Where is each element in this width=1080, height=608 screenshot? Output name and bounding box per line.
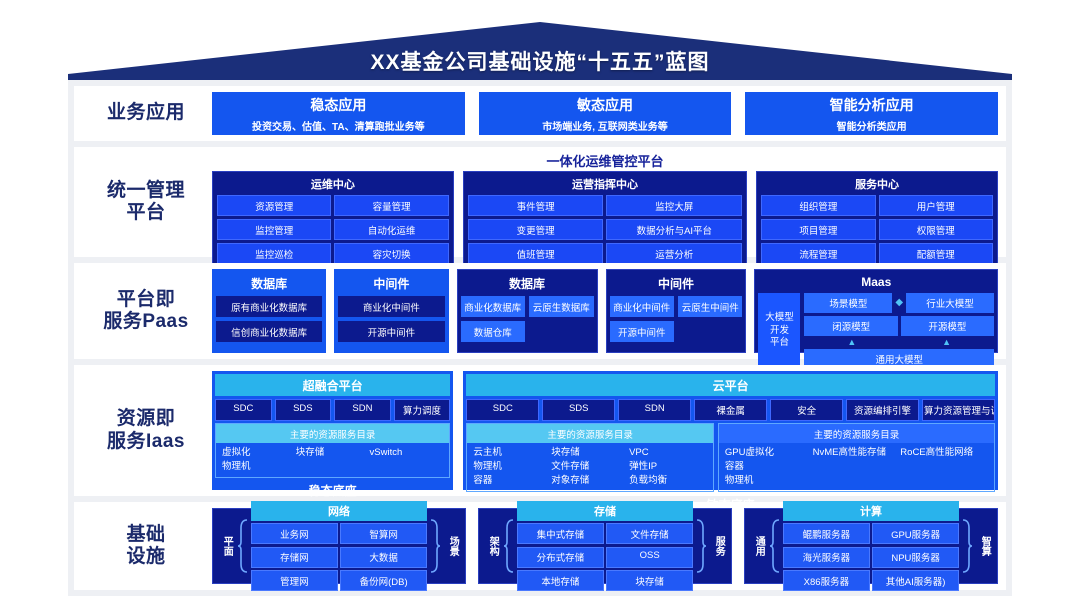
app-subtitle: 市场端业务, 互联网类业务等 xyxy=(542,118,668,133)
infrastructure-body: 平面 网络 业务网 智算网 存储网 大数据 管理网 xyxy=(212,508,998,584)
mgmt-cell[interactable]: 项目管理 xyxy=(761,219,875,240)
catalog-column: 虚拟化 物理机 xyxy=(222,447,296,473)
brace-left-icon xyxy=(503,518,514,574)
infra-title: 计算 xyxy=(783,501,959,521)
mgmt-cell[interactable]: 事件管理 xyxy=(468,195,604,216)
catalog-column: 块存储 xyxy=(296,447,370,473)
app-subtitle: 智能分析类应用 xyxy=(837,118,907,133)
brace-left-icon xyxy=(769,518,780,574)
catalog-column: RoCE高性能网络 xyxy=(900,447,988,487)
mgmt-cell[interactable]: 监控大屏 xyxy=(606,195,742,216)
infra-cell[interactable]: 海光服务器 xyxy=(783,547,870,568)
app-card-stable[interactable]: 稳态应用 投资交易、估值、TA、清算跑批业务等 xyxy=(212,92,465,135)
arrow-horizontal-icon: ◆ xyxy=(895,298,903,308)
layer-label-line2: 设施 xyxy=(126,546,165,568)
mgmt-cell[interactable]: 流程管理 xyxy=(761,243,875,264)
hci-base-label: 稳态底座 xyxy=(213,478,452,502)
cloud-capability[interactable]: SDC xyxy=(466,399,539,421)
paas-item[interactable]: 云原生中间件 xyxy=(678,296,742,317)
maas-dev-platform-l2: 开发 xyxy=(770,325,789,338)
infra-cell[interactable]: 其他AI服务器) xyxy=(872,570,959,591)
cloud-capability[interactable]: 资源编排引擎 xyxy=(846,399,919,421)
app-subtitle: 投资交易、估值、TA、清算跑批业务等 xyxy=(252,118,425,133)
roof-banner: XX基金公司基础设施“十五五”蓝图 xyxy=(68,22,1012,80)
infra-cell[interactable]: 智算网 xyxy=(340,523,427,544)
business-body: 稳态应用 投资交易、估值、TA、清算跑批业务等 敏态应用 市场端业务, 互联网类… xyxy=(212,92,998,135)
catalog-column: GPU虚拟化 容器 物理机 xyxy=(725,447,813,487)
cloud-catalog-ai: 主要的资源服务目录 GPU虚拟化 容器 物理机 NvME高性能存储 xyxy=(718,423,995,492)
infra-right-label: 服务 xyxy=(710,536,726,556)
maas-scene-model[interactable]: 场景模型 xyxy=(804,293,892,313)
mgmt-cell[interactable]: 资源管理 xyxy=(217,195,331,216)
paas-item[interactable]: 数据仓库 xyxy=(461,321,525,342)
paas-card-database-cloudnative[interactable]: 数据库 商业化数据库 云原生数据库 数据仓库 xyxy=(457,269,598,353)
layer-label-infrastructure: 基础 设施 xyxy=(80,508,212,584)
paas-item[interactable]: 商业化中间件 xyxy=(610,296,674,317)
cloud-capability[interactable]: 算力资源管理与调度 xyxy=(922,399,995,421)
paas-item[interactable]: 信创商业化数据库 xyxy=(216,321,322,342)
paas-card-title: 数据库 xyxy=(461,273,594,296)
infra-cell[interactable]: 备份网(DB) xyxy=(340,570,427,591)
layer-label-line2: 平台 xyxy=(107,202,185,224)
brace-right-icon xyxy=(696,518,707,574)
cloud-capability[interactable]: SDS xyxy=(542,399,615,421)
layer-label-management: 统一管理 平台 xyxy=(80,153,212,251)
catalog-column: 块存储 文件存储 对象存储 xyxy=(551,447,629,487)
paas-item[interactable]: 商业化中间件 xyxy=(338,296,444,317)
paas-card-title: 中间件 xyxy=(338,273,444,296)
infra-right-label: 智算 xyxy=(976,536,992,556)
maas-title: Maas xyxy=(758,273,994,293)
catalog-item: 物理机 xyxy=(222,461,296,473)
app-card-intelligent-analytics[interactable]: 智能分析应用 智能分析类应用 xyxy=(745,92,998,135)
infra-cell[interactable]: 业务网 xyxy=(251,523,338,544)
catalog-item: GPU虚拟化 xyxy=(725,447,813,459)
catalog-item: VPC xyxy=(629,447,707,459)
mgmt-card-ops-center[interactable]: 运维中心 资源管理 容量管理 监控管理 自动化运维 监控巡检 容灾切换 xyxy=(212,171,454,269)
cloud-platform-card[interactable]: 云平台 SDC SDS SDN 裸金属 安全 资源编排引擎 算力资源管理与调度 xyxy=(463,371,998,490)
infra-title: 网络 xyxy=(251,501,427,521)
arrow-up-icon: ▲ xyxy=(847,338,856,347)
catalog-column: VPC 弹性IP 负载均衡 xyxy=(629,447,707,487)
maas-dev-platform-l3: 平台 xyxy=(770,337,789,350)
catalog-item: 块存储 xyxy=(551,447,629,459)
layer-iaas: 资源即 服务Iaas 超融合平台 SDC SDS SDN 算力调度 xyxy=(74,365,1006,496)
layer-label-iaas: 资源即 服务Iaas xyxy=(80,371,212,490)
infra-cell[interactable]: 存储网 xyxy=(251,547,338,568)
infra-cell[interactable]: 块存储 xyxy=(606,570,693,591)
paas-card-middleware-cloudnative[interactable]: 中间件 商业化中间件 云原生中间件 开源中间件 xyxy=(606,269,747,353)
app-card-agile[interactable]: 敏态应用 市场端业务, 互联网类业务等 xyxy=(479,92,732,135)
mgmt-card-title: 服务中心 xyxy=(759,174,995,195)
paas-card-title: 中间件 xyxy=(610,273,743,296)
maas-card[interactable]: Maas 大模型 开发 平台 场景模型 ◆ xyxy=(754,269,998,353)
infra-cell[interactable]: 管理网 xyxy=(251,570,338,591)
mgmt-cell[interactable]: 权限管理 xyxy=(879,219,993,240)
catalog-item: NvME高性能存储 xyxy=(813,447,901,459)
mgmt-cell[interactable]: 自动化运维 xyxy=(334,219,448,240)
catalog-item: 块存储 xyxy=(296,447,370,459)
catalog-item: RoCE高性能网络 xyxy=(900,447,988,459)
paas-card-database-traditional[interactable]: 数据库 原有商业化数据库 信创商业化数据库 xyxy=(212,269,326,353)
maas-industry-model[interactable]: 行业大模型 xyxy=(906,293,994,313)
mgmt-cell[interactable]: 容量管理 xyxy=(334,195,448,216)
paas-group-cloudnative: 数据库 商业化数据库 云原生数据库 数据仓库 中间件 商业化中间件 xyxy=(457,269,747,353)
mgmt-cell[interactable]: 配额管理 xyxy=(879,243,993,264)
maas-arrow-row: ▲ ▲ xyxy=(804,339,994,346)
app-title: 敏态应用 xyxy=(577,95,633,115)
mgmt-card-service-center[interactable]: 服务中心 组织管理 用户管理 项目管理 权限管理 流程管理 配额管理 xyxy=(756,171,998,269)
maas-dev-platform-l1: 大模型 xyxy=(765,312,794,325)
hci-capability[interactable]: SDC xyxy=(215,399,272,421)
arrow-up-icon: ▲ xyxy=(942,338,951,347)
paas-item[interactable]: 开源中间件 xyxy=(610,321,674,342)
infra-cell[interactable]: 文件存储 xyxy=(606,523,693,544)
catalog-item: vSwitch xyxy=(370,447,444,459)
catalog-item: 对象存储 xyxy=(551,475,629,487)
catalog-item: 容器 xyxy=(725,461,813,473)
hci-catalog-title: 主要的资源服务目录 xyxy=(216,424,449,443)
infra-cell[interactable]: 集中式存储 xyxy=(517,523,604,544)
catalog-item: 虚拟化 xyxy=(222,447,296,459)
infra-left-label: 通用 xyxy=(750,536,766,556)
blueprint-diagram: XX基金公司基础设施“十五五”蓝图 业务应用 稳态应用 投资交易、估值、TA、清… xyxy=(0,0,1080,608)
cloud-catalog-title: 主要的资源服务目录 xyxy=(719,424,994,443)
mgmt-card-title: 运维中心 xyxy=(215,174,451,195)
layer-paas: 平台即 服务Paas 数据库 原有商业化数据库 信创商业化数据库 xyxy=(74,263,1006,359)
catalog-column: vSwitch xyxy=(370,447,444,473)
brace-left-icon xyxy=(237,518,248,574)
management-body: 一体化运维管控平台 运维中心 资源管理 容量管理 监控管理 自动化运维 监控巡检… xyxy=(212,153,998,251)
mgmt-card-title: 运营指挥中心 xyxy=(466,174,744,195)
mgmt-cell[interactable]: 运营分析 xyxy=(606,243,742,264)
hci-capability[interactable]: SDS xyxy=(275,399,332,421)
iaas-body: 超融合平台 SDC SDS SDN 算力调度 主要的资源服务目录 虚拟化 xyxy=(212,371,998,490)
app-title: 稳态应用 xyxy=(310,95,366,115)
layer-label-line2: 服务Paas xyxy=(103,311,188,333)
mgmt-cell[interactable]: 组织管理 xyxy=(761,195,875,216)
layer-label-business: 业务应用 xyxy=(80,92,212,135)
infra-cell[interactable]: 大数据 xyxy=(340,547,427,568)
paas-item[interactable]: 开源中间件 xyxy=(338,321,444,342)
cloud-capability[interactable]: 裸金属 xyxy=(694,399,767,421)
mgmt-cell[interactable]: 容灾切换 xyxy=(334,243,448,264)
mgmt-cell[interactable]: 值班管理 xyxy=(468,243,604,264)
catalog-item: 物理机 xyxy=(725,475,813,487)
maas-dev-platform[interactable]: 大模型 开发 平台 xyxy=(758,293,800,369)
infra-card-compute[interactable]: 通用 计算 鲲鹏服务器 GPU服务器 海光服务器 NPU服务器 X86服务 xyxy=(744,508,998,584)
paas-body: 数据库 原有商业化数据库 信创商业化数据库 中间件 商业化中间件 开源中间件 xyxy=(212,269,998,353)
paas-item[interactable]: 商业化数据库 xyxy=(461,296,525,317)
layer-label-line2: 服务Iaas xyxy=(107,431,185,453)
infra-cell[interactable]: 本地存储 xyxy=(517,570,604,591)
cloud-platform-title: 云平台 xyxy=(466,374,995,396)
infra-card-network[interactable]: 平面 网络 业务网 智算网 存储网 大数据 管理网 xyxy=(212,508,466,584)
paas-card-middleware-traditional[interactable]: 中间件 商业化中间件 开源中间件 xyxy=(334,269,448,353)
paas-item-empty xyxy=(529,321,593,342)
cloud-catalog-title: 主要的资源服务目录 xyxy=(467,424,713,443)
mgmt-cell[interactable]: 变更管理 xyxy=(468,219,604,240)
brace-right-icon xyxy=(430,518,441,574)
mgmt-card-operation-command-center[interactable]: 运营指挥中心 事件管理 监控大屏 变更管理 数据分析与AI平台 值班管理 运营分… xyxy=(463,171,747,269)
infra-title: 存储 xyxy=(517,501,693,521)
page-title: XX基金公司基础设施“十五五”蓝图 xyxy=(68,22,1012,80)
hci-capability[interactable]: 算力调度 xyxy=(394,399,451,421)
cloud-capability[interactable]: 安全 xyxy=(770,399,843,421)
cloud-capability[interactable]: SDN xyxy=(618,399,691,421)
paas-group-maas: Maas 大模型 开发 平台 场景模型 ◆ xyxy=(754,269,998,353)
layer-business-application: 业务应用 稳态应用 投资交易、估值、TA、清算跑批业务等 敏态应用 市场端业务,… xyxy=(74,86,1006,141)
catalog-item: 弹性IP xyxy=(629,461,707,473)
infra-cell[interactable]: 鲲鹏服务器 xyxy=(783,523,870,544)
catalog-column: NvME高性能存储 xyxy=(813,447,901,487)
cloud-catalog-general: 主要的资源服务目录 云主机 物理机 容器 块存储 文 xyxy=(466,423,714,492)
hci-platform-card[interactable]: 超融合平台 SDC SDS SDN 算力调度 主要的资源服务目录 虚拟化 xyxy=(212,371,453,490)
layer-label-line1: 平台即 xyxy=(103,289,188,311)
layers-panel: 业务应用 稳态应用 投资交易、估值、TA、清算跑批业务等 敏态应用 市场端业务,… xyxy=(68,80,1012,596)
layer-label-paas: 平台即 服务Paas xyxy=(80,269,212,353)
paas-item[interactable]: 原有商业化数据库 xyxy=(216,296,322,317)
maas-open-source-model[interactable]: 开源模型 xyxy=(901,316,994,336)
hci-capability[interactable]: SDN xyxy=(334,399,391,421)
paas-card-title: 数据库 xyxy=(216,273,322,296)
infra-left-label: 架构 xyxy=(484,536,500,556)
mgmt-cell[interactable]: 用户管理 xyxy=(879,195,993,216)
hci-platform-title: 超融合平台 xyxy=(215,374,450,396)
infra-right-label: 场景 xyxy=(444,536,460,556)
infra-cell[interactable]: NPU服务器 xyxy=(872,547,959,568)
catalog-item: 物理机 xyxy=(473,461,551,473)
catalog-item: 容器 xyxy=(473,475,551,487)
paas-group-traditional: 数据库 原有商业化数据库 信创商业化数据库 中间件 商业化中间件 开源中间件 xyxy=(212,269,449,353)
maas-closed-source-model[interactable]: 闭源模型 xyxy=(804,316,897,336)
paas-item[interactable]: 云原生数据库 xyxy=(529,296,593,317)
hci-catalog: 主要的资源服务目录 虚拟化 物理机 块存储 vSwitc xyxy=(215,423,450,478)
mgmt-cell[interactable]: 监控管理 xyxy=(217,219,331,240)
integrated-ops-platform-title: 一体化运维管控平台 xyxy=(212,153,998,171)
layer-label-line1: 基础 xyxy=(126,524,165,546)
infra-cell[interactable]: 分布式存储 xyxy=(517,547,604,568)
mgmt-cell[interactable]: 监控巡检 xyxy=(217,243,331,264)
infra-cell[interactable]: OSS xyxy=(606,547,693,568)
layer-label-line1: 资源即 xyxy=(107,408,185,430)
catalog-item: 负载均衡 xyxy=(629,475,707,487)
infra-left-label: 平面 xyxy=(218,536,234,556)
infra-cell[interactable]: GPU服务器 xyxy=(872,523,959,544)
app-title: 智能分析应用 xyxy=(830,95,914,115)
mgmt-cell[interactable]: 数据分析与AI平台 xyxy=(606,219,742,240)
catalog-item: 文件存储 xyxy=(551,461,629,473)
layer-infrastructure: 基础 设施 平面 网络 业务网 xyxy=(74,502,1006,590)
layer-unified-management: 统一管理 平台 一体化运维管控平台 运维中心 资源管理 容量管理 监控管理 xyxy=(74,147,1006,257)
catalog-item: 云主机 xyxy=(473,447,551,459)
layer-label-line1: 统一管理 xyxy=(107,180,185,202)
catalog-column: 云主机 物理机 容器 xyxy=(473,447,551,487)
paas-item-empty xyxy=(678,321,742,342)
brace-right-icon xyxy=(962,518,973,574)
infra-card-storage[interactable]: 架构 存储 集中式存储 文件存储 分布式存储 OSS 本地存储 xyxy=(478,508,732,584)
infra-cell[interactable]: X86服务器 xyxy=(783,570,870,591)
